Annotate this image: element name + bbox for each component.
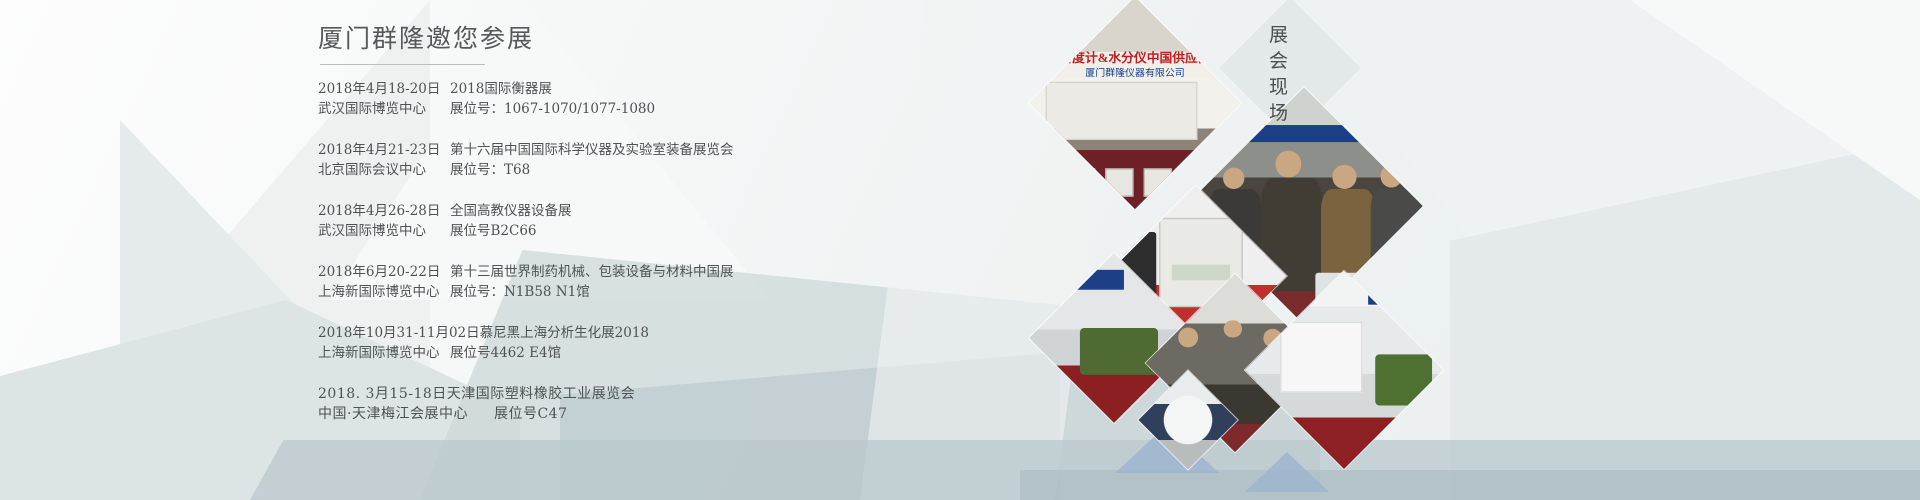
person-head [1224, 320, 1242, 338]
person-torso [1371, 189, 1419, 284]
booth-panel [1280, 322, 1362, 392]
promo-banner: 厦门群隆邀您参展 2018年4月18-20日2018国际衡器展 武汉国际博览中心… [0, 0, 1920, 500]
event-name: 全国高教仪器设备展 [450, 201, 572, 221]
vertical-label-char-4: 场 [1268, 100, 1292, 126]
booth-banner: 密度计&水分仪中国供应商 厦门群隆仪器有限公司 [1041, 52, 1228, 78]
event-item-3: 2018年4月26-28日全国高教仪器设备展 武汉国际博览中心展位号B2C66 [318, 201, 788, 241]
booth-backwall [1046, 82, 1198, 140]
event-row-venue: 上海新国际博览中心展位号：N1B58 N1馆 [318, 282, 788, 302]
event-name: 第十三届世界制药机械、包装设备与材料中国展 [450, 262, 734, 282]
event-item-1: 2018年4月18-20日2018国际衡器展 武汉国际博览中心展位号：1067-… [318, 79, 788, 119]
device-display [1172, 265, 1230, 281]
person-head [1275, 151, 1301, 177]
event-name: 慕尼黑上海分析生化展2018 [480, 323, 649, 343]
vertical-label-char-3: 现 [1268, 74, 1292, 100]
event-booth: 展位号C47 [494, 404, 568, 424]
event-item-2: 2018年4月21-23日第十六届中国国际科学仪器及实验室装备展览会 北京国际会… [318, 140, 788, 180]
event-list-panel: 厦门群隆邀您参展 2018年4月18-20日2018国际衡器展 武汉国际博览中心… [318, 22, 788, 445]
event-name: 第十六届中国国际科学仪器及实验室装备展览会 [450, 140, 734, 160]
event-row-date: 2018. 3月15-18日天津国际塑料橡胶工业展览会 [318, 384, 788, 404]
event-date: 2018年10月31-11月02日 [318, 323, 480, 343]
event-item-4: 2018年6月20-22日第十三届世界制药机械、包装设备与材料中国展 上海新国际… [318, 262, 788, 302]
event-row-venue: 武汉国际博览中心展位号：1067-1070/1077-1080 [318, 99, 788, 119]
booth-equipment [1105, 168, 1133, 196]
event-venue: 上海新国际博览中心 [318, 282, 450, 302]
event-row-date: 2018年4月21-23日第十六届中国国际科学仪器及实验室装备展览会 [318, 140, 788, 160]
booth-header-strip [1185, 125, 1423, 142]
event-booth: 展位号：N1B58 N1馆 [450, 282, 590, 302]
event-date: 2018年6月20-22日 [318, 262, 450, 282]
event-date: 2018年4月21-23日 [318, 140, 450, 160]
event-item-5: 2018年10月31-11月02日慕尼黑上海分析生化展2018 上海新国际博览中… [318, 323, 788, 363]
event-date: 2018年4月18-20日 [318, 79, 450, 99]
event-row-date: 2018年4月18-20日2018国际衡器展 [318, 79, 788, 99]
vertical-label-char-1: 展 [1268, 22, 1292, 48]
banner-company-text: 厦门群隆仪器有限公司 [1041, 66, 1228, 80]
person-head [1333, 165, 1357, 189]
event-row-venue: 北京国际会议中心展位号：T68 [318, 160, 788, 180]
booth-sign [1036, 270, 1125, 290]
event-row-date: 2018年10月31-11月02日慕尼黑上海分析生化展2018 [318, 323, 788, 343]
machine-unit [1080, 328, 1158, 376]
event-booth: 展位号4462 E4馆 [450, 343, 561, 363]
person-head [1380, 165, 1401, 186]
event-date: 2018. 3月15-18日天津国际塑料橡胶工业展览会 [318, 384, 635, 404]
vertical-label-char-2: 会 [1268, 48, 1292, 74]
event-venue: 武汉国际博览中心 [318, 221, 450, 241]
person-head [1178, 327, 1198, 347]
booth-logo [1368, 286, 1432, 304]
booth-equipment [1144, 168, 1172, 196]
event-venue: 中国·天津梅江会展中心 [318, 404, 468, 424]
banner-main-text: 密度计&水分仪中国供应商 [1041, 52, 1228, 66]
event-row-date: 2018年6月20-22日第十三届世界制药机械、包装设备与材料中国展 [318, 262, 788, 282]
event-name: 2018国际衡器展 [450, 79, 552, 99]
photo-green-machine-booth [1245, 271, 1443, 469]
machine-unit [1376, 354, 1432, 406]
event-venue: 武汉国际博览中心 [318, 99, 450, 119]
title-underline [320, 64, 485, 65]
event-row-date: 2018年4月26-28日全国高教仪器设备展 [318, 201, 788, 221]
event-row-venue: 上海新国际博览中心展位号4462 E4馆 [318, 343, 788, 363]
collage-photo-6[interactable] [1245, 271, 1443, 469]
page-title: 厦门群隆邀您参展 [318, 22, 788, 56]
event-item-6: 2018. 3月15-18日天津国际塑料橡胶工业展览会 中国·天津梅江会展中心展… [318, 384, 788, 424]
collage-photo-1[interactable]: 密度计&水分仪中国供应商 厦门群隆仪器有限公司 [1029, 0, 1241, 209]
photo-booth-density-meter: 密度计&水分仪中国供应商 厦门群隆仪器有限公司 [1029, 0, 1241, 209]
event-date: 2018年4月26-28日 [318, 201, 450, 221]
event-booth: 展位号：T68 [450, 160, 530, 180]
event-venue: 上海新国际博览中心 [318, 343, 450, 363]
event-venue: 北京国际会议中心 [318, 160, 450, 180]
collage-vertical-label: 展 会 现 场 [1268, 22, 1292, 126]
event-row-venue: 武汉国际博览中心展位号B2C66 [318, 221, 788, 241]
event-booth: 展位号：1067-1070/1077-1080 [450, 99, 655, 119]
booth-equipment [1067, 168, 1095, 196]
person-head [1223, 168, 1244, 189]
photo-collage: 密度计&水分仪中国供应商 厦门群隆仪器有限公司 [1020, 0, 1440, 500]
event-booth: 展位号B2C66 [450, 221, 537, 241]
event-row-venue: 中国·天津梅江会展中心展位号C47 [318, 404, 788, 424]
